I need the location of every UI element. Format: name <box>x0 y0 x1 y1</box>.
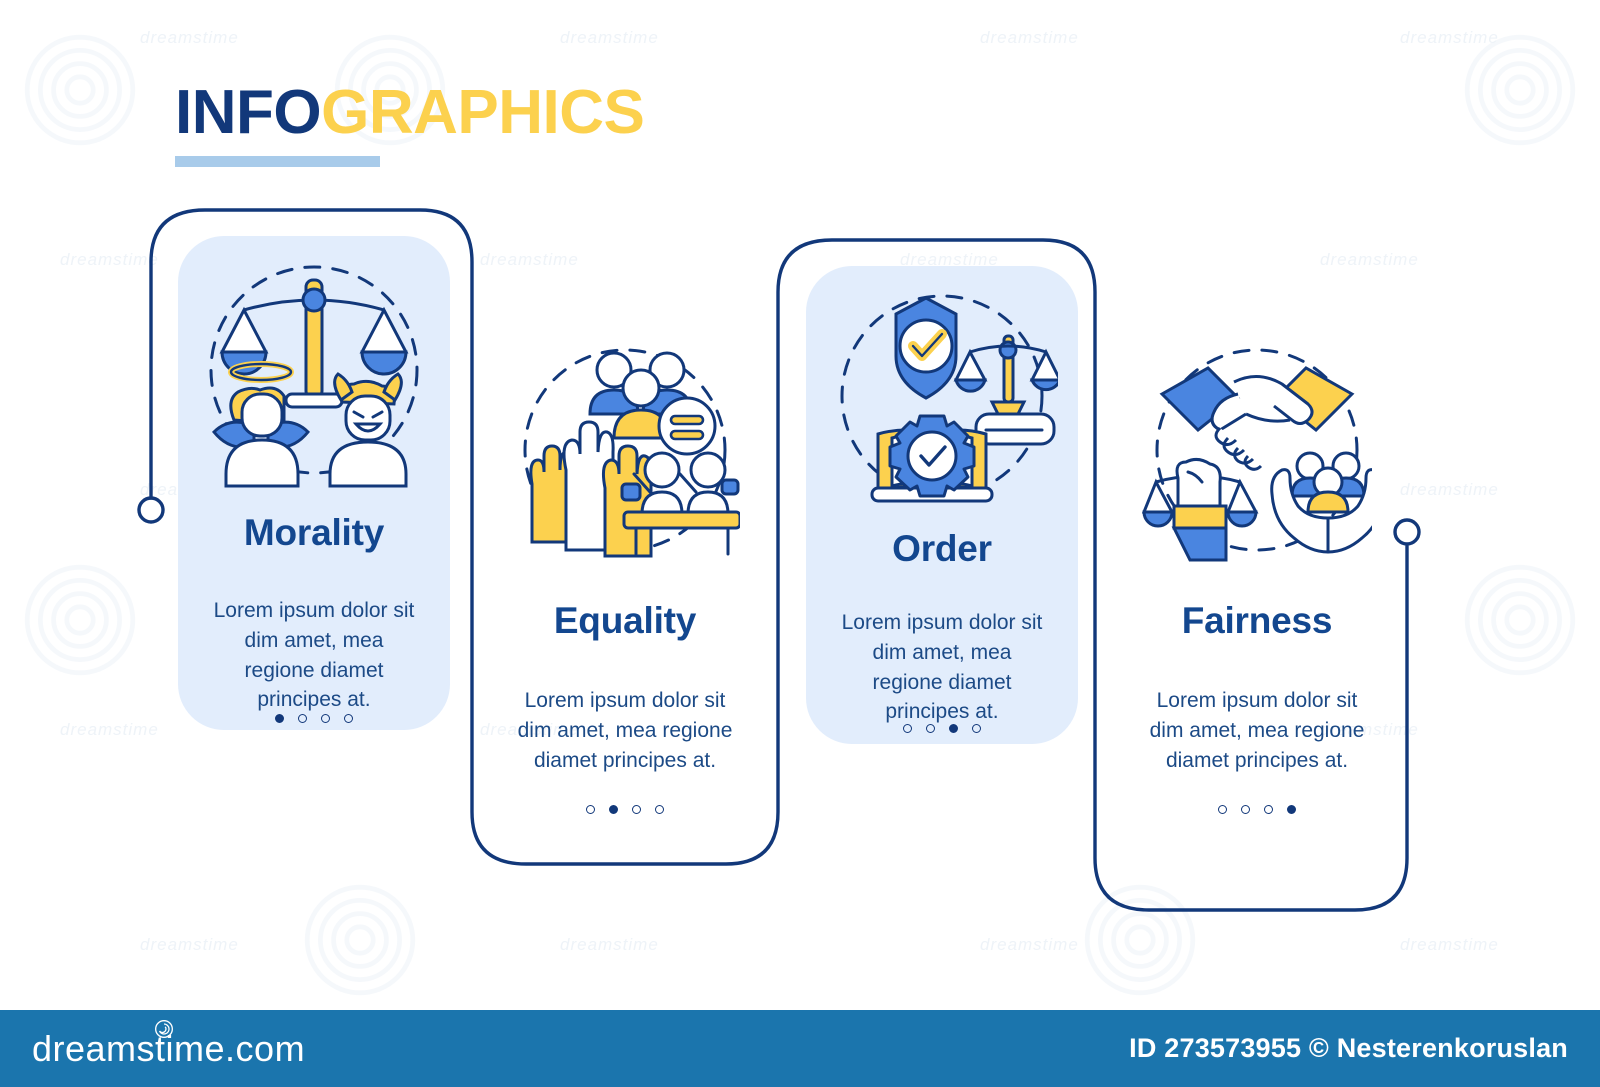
step-dot-2[interactable] <box>298 714 307 723</box>
card-description: Lorem ipsum dolor sit dim amet, mea regi… <box>486 686 764 775</box>
step-dot-1[interactable] <box>1218 805 1227 814</box>
watermark-text: dreamstime <box>60 720 159 740</box>
card-title: Fairness <box>1118 600 1396 642</box>
image-credit: ID 273573955 © Nesterenkoruslan <box>1129 1033 1568 1064</box>
page-title-part-two: GRAPHICS <box>321 78 644 147</box>
watermark-text: dreamstime <box>560 28 659 48</box>
step-dot-3[interactable] <box>321 714 330 723</box>
watermark-text: dreamstime <box>1400 480 1499 500</box>
watermark-spiral-icon <box>20 30 140 150</box>
end-node-circle <box>1395 520 1419 544</box>
morality-scales-angel-devil-icon <box>196 260 432 490</box>
step-dot-1[interactable] <box>903 724 912 733</box>
step-dot-3[interactable] <box>1264 805 1273 814</box>
step-dot-4[interactable] <box>655 805 664 814</box>
watermark-text: dreamstime <box>1400 935 1499 955</box>
watermark-text: dreamstime <box>140 28 239 48</box>
card-title: Morality <box>178 512 450 554</box>
step-indicator-dots[interactable] <box>178 714 450 723</box>
step-dot-2[interactable] <box>1241 805 1250 814</box>
watermark-spiral-icon <box>20 560 140 680</box>
step-dot-4[interactable] <box>1287 805 1296 814</box>
step-dot-1[interactable] <box>586 805 595 814</box>
watermark-text: dreamstime <box>1400 28 1499 48</box>
title-underline-rule <box>175 156 380 167</box>
step-indicator-dots[interactable] <box>486 805 764 814</box>
step-dot-4[interactable] <box>344 714 353 723</box>
dreamstime-logo[interactable]: dreamstime.com <box>32 1028 305 1070</box>
watermark-text: dreamstime <box>140 935 239 955</box>
card-title: Equality <box>486 600 764 642</box>
page-title: INFOGRAPHICS <box>175 82 644 144</box>
step-dot-1[interactable] <box>275 714 284 723</box>
watermark-text: dreamstime <box>60 250 159 270</box>
watermark-text: dreamstime <box>980 28 1079 48</box>
watermark-spiral-icon <box>1460 30 1580 150</box>
card-title: Order <box>806 528 1078 570</box>
watermark-text: dreamstime <box>480 250 579 270</box>
step-dot-3[interactable] <box>632 805 641 814</box>
step-dot-2[interactable] <box>926 724 935 733</box>
fairness-handshake-scales-hands-icon <box>1142 342 1372 564</box>
step-card-fairness[interactable]: Fairness Lorem ipsum dolor sit dim amet,… <box>1118 300 1396 860</box>
watermark-spiral-icon <box>1080 880 1200 1000</box>
watermark-spiral-icon <box>300 880 420 1000</box>
watermark-text: dreamstime <box>1320 250 1419 270</box>
step-indicator-dots[interactable] <box>1118 805 1396 814</box>
page-title-block: INFOGRAPHICS <box>175 82 644 167</box>
watermark-text: dreamstime <box>560 935 659 955</box>
step-dot-4[interactable] <box>972 724 981 733</box>
spiral-mark-icon <box>154 1019 174 1039</box>
equality-people-raised-hands-icon <box>510 342 740 564</box>
step-dot-3[interactable] <box>949 724 958 733</box>
step-card-order[interactable]: Order Lorem ipsum dolor sit dim amet, me… <box>806 266 1078 744</box>
stock-footer-bar: dreamstime.com ID 273573955 © Nesterenko… <box>0 1010 1600 1087</box>
step-indicator-dots[interactable] <box>806 724 1078 733</box>
card-description: Lorem ipsum dolor sit dim amet, mea regi… <box>1118 686 1396 775</box>
step-card-morality[interactable]: Morality Lorem ipsum dolor sit dim amet,… <box>178 236 450 730</box>
order-shield-check-scales-book-icon <box>826 286 1058 508</box>
start-node-circle <box>139 498 163 522</box>
watermark-spiral-icon <box>1460 560 1580 680</box>
watermark-text: dreamstime <box>980 935 1079 955</box>
step-dot-2[interactable] <box>609 805 618 814</box>
infographic-canvas: dreamstime dreamstime dreamstime dreamst… <box>0 0 1600 1087</box>
card-description: Lorem ipsum dolor sit dim amet, mea regi… <box>178 596 450 715</box>
card-description: Lorem ipsum dolor sit dim amet, mea regi… <box>806 608 1078 727</box>
step-card-equality[interactable]: Equality Lorem ipsum dolor sit dim amet,… <box>486 300 764 860</box>
page-title-part-one: INFO <box>175 78 321 147</box>
